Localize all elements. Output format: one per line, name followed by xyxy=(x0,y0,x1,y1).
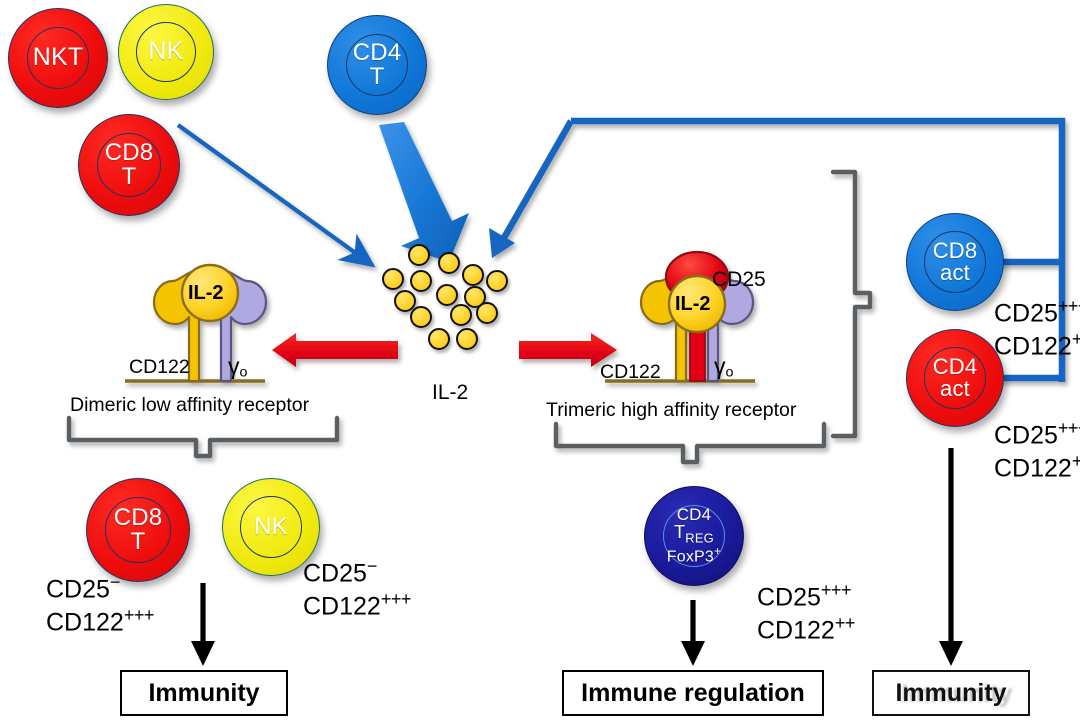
cell-nucleus-ring xyxy=(105,497,170,562)
cell-nucleus-ring xyxy=(663,505,726,568)
trimeric-cd25-label: CD25 xyxy=(712,268,766,292)
markers-nk-responder: CD25− CD122+++ xyxy=(303,556,411,622)
cell-cd8-t-responder[interactable]: CD8 T xyxy=(86,478,190,582)
diagram-canvas: NKT NK CD8 T CD4 T IL-2 xyxy=(0,0,1080,720)
cell-nucleus-ring xyxy=(924,231,985,292)
trimeric-il2-ligand-label: IL-2 xyxy=(675,293,711,316)
cell-nucleus-ring xyxy=(240,496,301,557)
outcome-box-immune-regulation[interactable]: Immune regulation xyxy=(562,670,824,716)
trimeric-gamma-chain-label: γo xyxy=(714,353,733,381)
cell-cd4-treg[interactable]: CD4 TREG FoxP3+ xyxy=(644,486,744,586)
cell-cd8-act[interactable]: CD8 act xyxy=(906,213,1004,311)
cell-nucleus-ring xyxy=(924,347,985,408)
markers-cd4-act: CD25+++ CD122++ xyxy=(994,418,1080,484)
markers-cd8-t-responder: CD25− CD122+++ xyxy=(46,572,154,638)
trimeric-cd122-label: CD122 xyxy=(600,361,661,384)
cell-cd4-act[interactable]: CD4 act xyxy=(906,329,1004,427)
markers-cd4-treg: CD25+++ CD122++ xyxy=(757,580,855,646)
markers-cd8-act: CD25+++ CD122++ xyxy=(994,296,1080,362)
outcome-box-immunity-left[interactable]: Immunity xyxy=(120,670,288,716)
outcome-box-immunity-right-label: Immunity xyxy=(895,679,1006,708)
outcome-box-immunity-right[interactable]: Immunity Immunity xyxy=(872,670,1030,716)
trimeric-receptor-caption: Trimeric high affinity receptor xyxy=(546,399,796,422)
